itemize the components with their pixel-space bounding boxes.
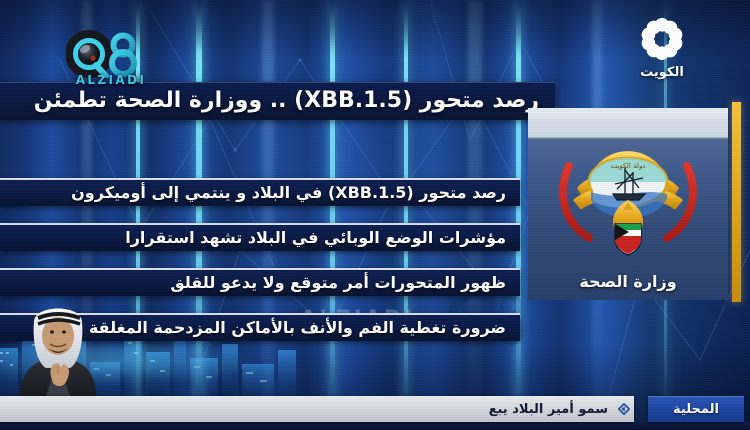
ticker-category-label: المحلية (673, 403, 719, 416)
kuwait-tv-logo: الكويت (622, 14, 702, 86)
ticker-bottom-bar (0, 422, 750, 430)
channel-logo: ALZIADI (62, 30, 158, 98)
list-item: رصد متحور (XBB.1.5) في البلاد و ينتمي إل… (0, 178, 520, 206)
svg-text:دولة الكويت: دولة الكويت (611, 162, 646, 170)
ticker-headline: سمو أمير البلاد يبع (489, 403, 608, 416)
diamond-arrow-icon (618, 403, 630, 415)
ticker-separator-icon (614, 396, 634, 422)
panel-body: دولة الكويت وزارة الصحة (528, 138, 728, 300)
bullet-text: مؤشرات الوضع الوبائي في البلاد تشهد استق… (125, 230, 506, 246)
news-ticker: سمو أمير البلاد يبع المحلية (0, 396, 750, 422)
list-item: مؤشرات الوضع الوبائي في البلاد تشهد استق… (0, 223, 520, 251)
q8-camera-logo-icon (66, 30, 144, 78)
ministry-of-health-panel: دولة الكويت وزارة الصحة (528, 108, 728, 300)
kuwait-tv-label: الكويت (622, 66, 702, 79)
bullet-text: ظهور المتحورات أمر متوقع ولا يدعو للقلق (170, 275, 506, 291)
bullet-text: ضرورة تغطية الفم والأنف بالأماكن المزدحم… (89, 320, 506, 336)
list-item: ظهور المتحورات أمر متوقع ولا يدعو للقلق (0, 268, 520, 296)
ticker-text-strip[interactable]: سمو أمير البلاد يبع (0, 396, 634, 422)
panel-top-bar (528, 108, 728, 138)
kuwait-state-emblem-icon: دولة الكويت (553, 144, 703, 256)
ticker-category-badge[interactable]: المحلية (648, 396, 744, 422)
broadcast-screen: ALZIADI (0, 0, 750, 430)
gold-accent-strip (732, 102, 741, 302)
bullet-text: رصد متحور (XBB.1.5) في البلاد و ينتمي إل… (71, 185, 506, 201)
kuwait-petal-circle-icon (622, 14, 702, 66)
ministry-name-label: وزارة الصحة (528, 274, 728, 290)
channel-logo-label: ALZIADI (66, 74, 156, 86)
sign-language-interpreter (2, 296, 120, 396)
